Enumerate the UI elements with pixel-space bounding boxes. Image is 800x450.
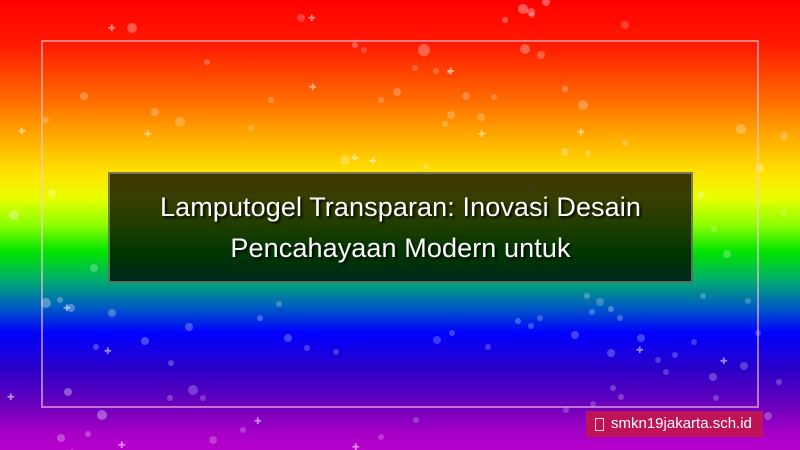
source-site-label: smkn19jakarta.sch.id bbox=[611, 411, 752, 437]
page-title: Lamputogel Transparan: Inovasi Desain Pe… bbox=[110, 187, 691, 269]
title-plate: Lamputogel Transparan: Inovasi Desain Pe… bbox=[108, 172, 693, 283]
banner-canvas: ✚✚✚✚✚✚✚✚✚✚✚✚✚✚✚✚✚✚✚ Lamputogel Transpara… bbox=[0, 0, 800, 450]
missing-glyph-box-icon bbox=[595, 418, 604, 431]
source-site-badge[interactable]: smkn19jakarta.sch.id bbox=[586, 411, 763, 437]
